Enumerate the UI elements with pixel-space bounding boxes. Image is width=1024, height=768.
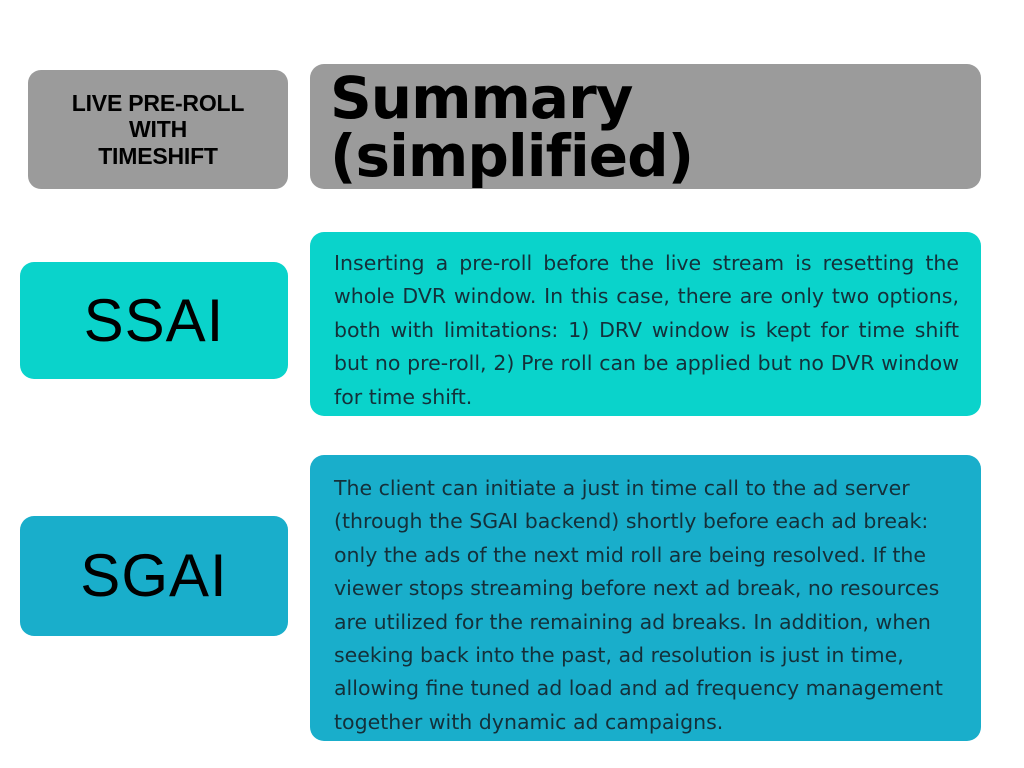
slide-canvas: LIVE PRE-ROLL WITH TIMESHIFT Summary (si…: [0, 0, 1024, 768]
row-label-sgai-text: SGAI: [80, 546, 227, 606]
row-body-ssai-text: Inserting a pre-roll before the live str…: [334, 247, 959, 414]
page-title: Summary (simplified): [330, 69, 961, 185]
row-body-sgai-text: The client can initiate a just in time c…: [334, 472, 959, 739]
row-body-sgai: The client can initiate a just in time c…: [310, 455, 981, 741]
header-category-label: LIVE PRE-ROLL WITH TIMESHIFT: [72, 90, 244, 169]
row-body-ssai: Inserting a pre-roll before the live str…: [310, 232, 981, 416]
row-label-ssai: SSAI: [20, 262, 288, 379]
row-label-ssai-text: SSAI: [84, 291, 225, 351]
slide-title-bar: Summary (simplified): [310, 64, 981, 189]
row-label-sgai: SGAI: [20, 516, 288, 636]
header-category-chip: LIVE PRE-ROLL WITH TIMESHIFT: [28, 70, 288, 189]
